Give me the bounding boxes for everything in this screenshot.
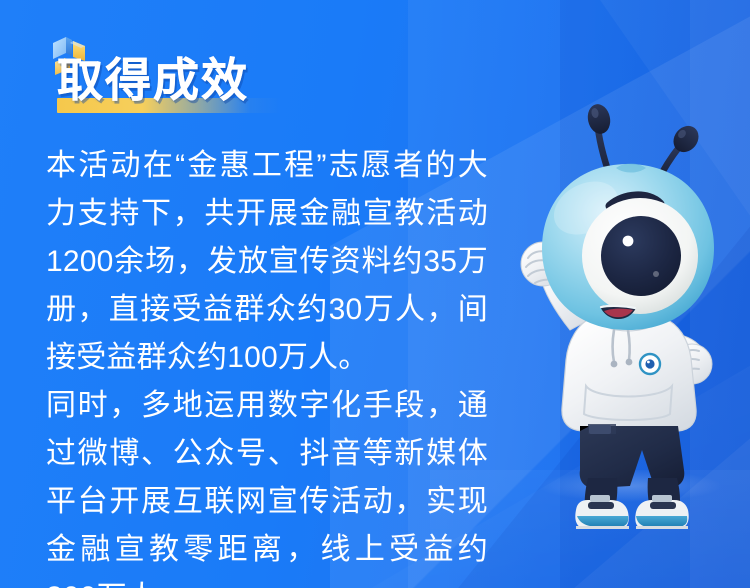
body-copy-block: 本活动在“金惠工程”志愿者的大力支持下，共开展金融宣教活动1200余场，发放宣传…: [46, 142, 488, 588]
poster-canvas: 取得成效 本活动在“金惠工程”志愿者的大力支持下，共开展金融宣教活动1200余场…: [0, 0, 750, 588]
mascot-head: [542, 164, 714, 331]
eye-emblem-icon: [640, 354, 660, 374]
header-block: 取得成效: [48, 36, 468, 122]
paragraph-digital-channels: 同时，多地运用数字化手段，通过微博、公众号、抖音等新媒体平台开展互联网宣传活动，…: [46, 382, 488, 588]
page-title: 取得成效: [57, 52, 249, 108]
one-eyed-blue-mascot: [488, 78, 750, 530]
paragraph-achievements: 本活动在“金惠工程”志愿者的大力支持下，共开展金融宣教活动1200余场，发放宣传…: [46, 142, 488, 382]
